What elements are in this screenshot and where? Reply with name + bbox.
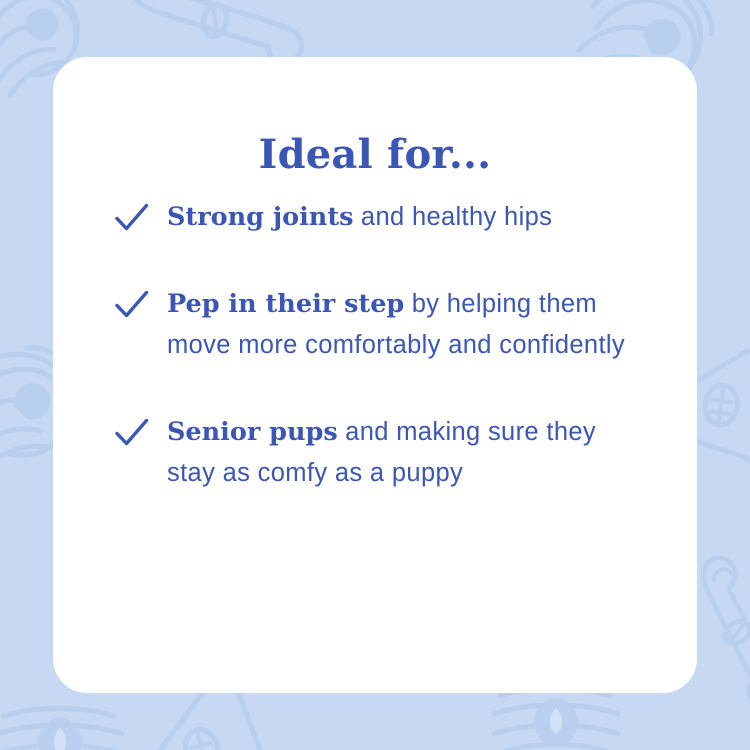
benefit-lead: Strong joints	[167, 202, 353, 232]
content-card: Ideal for... Strong joints and healthy h…	[53, 57, 697, 693]
benefit-text: Senior pups and making sure they stay as…	[167, 412, 637, 494]
benefit-list: Strong joints and healthy hips Pep in th…	[115, 197, 675, 494]
list-item: Senior pups and making sure they stay as…	[115, 412, 675, 494]
benefit-lead: Senior pups	[167, 417, 338, 447]
benefit-rest: and healthy hips	[353, 203, 552, 231]
page-title: Ideal for...	[53, 133, 697, 177]
check-icon	[115, 197, 167, 233]
poster-canvas: Ideal for... Strong joints and healthy h…	[0, 0, 750, 750]
benefit-text: Strong joints and healthy hips	[167, 197, 637, 238]
benefit-lead: Pep in their step	[167, 289, 404, 319]
benefit-text: Pep in their step by helping them move m…	[167, 284, 637, 366]
list-item: Pep in their step by helping them move m…	[115, 284, 675, 366]
check-icon	[115, 284, 167, 320]
list-item: Strong joints and healthy hips	[115, 197, 675, 238]
check-icon	[115, 412, 167, 448]
